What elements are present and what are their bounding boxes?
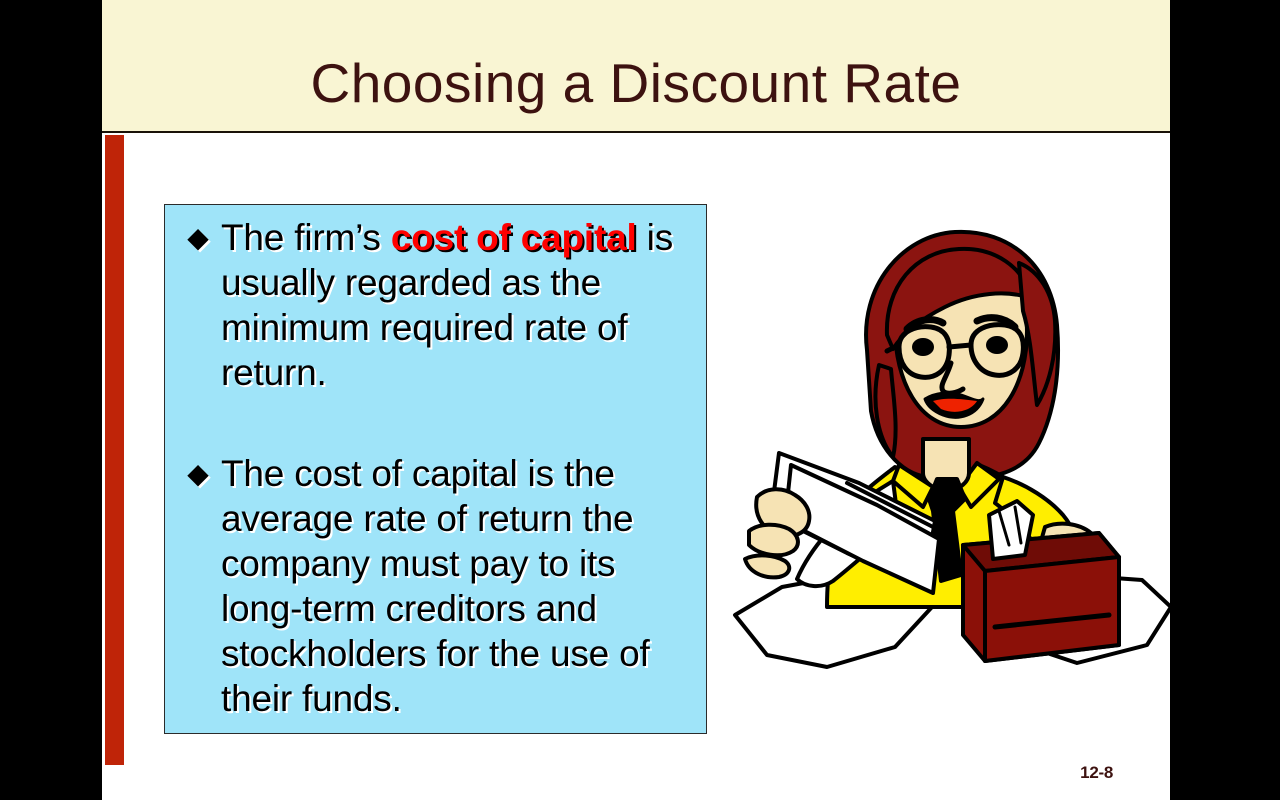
presentation-viewport: Choosing a Discount Rate ◆ The firm’s co…: [0, 0, 1280, 800]
hair-side-left: [875, 365, 895, 457]
bullet-text: The cost of capital is the average rate …: [221, 451, 692, 721]
box-paper-sheet: [989, 501, 1033, 559]
list-item: ◆ The firm’s cost of capital is usually …: [175, 215, 692, 395]
list-item: ◆ The cost of capital is the average rat…: [175, 451, 692, 721]
slide-title-bar: Choosing a Discount Rate: [102, 0, 1170, 133]
bullet-text-segment: The firm’s: [221, 217, 391, 258]
highlighted-term: cost of capital: [391, 217, 637, 258]
content-text-box: ◆ The firm’s cost of capital is usually …: [164, 204, 707, 734]
diamond-bullet-icon: ◆: [175, 451, 221, 496]
eye-left: [912, 338, 934, 356]
accent-bar: [105, 135, 124, 765]
eye-right: [986, 336, 1008, 354]
slide-number: 12-8: [1080, 763, 1113, 783]
thumb: [745, 555, 789, 577]
page-title: Choosing a Discount Rate: [102, 56, 1170, 111]
file-box-front: [985, 557, 1119, 661]
businesswoman-reading-documents-illustration: [727, 215, 1170, 680]
bullet-text: The firm’s cost of capital is usually re…: [221, 215, 692, 395]
slide-canvas: Choosing a Discount Rate ◆ The firm’s co…: [102, 0, 1170, 800]
fingers: [749, 525, 798, 556]
diamond-bullet-icon: ◆: [175, 215, 221, 260]
